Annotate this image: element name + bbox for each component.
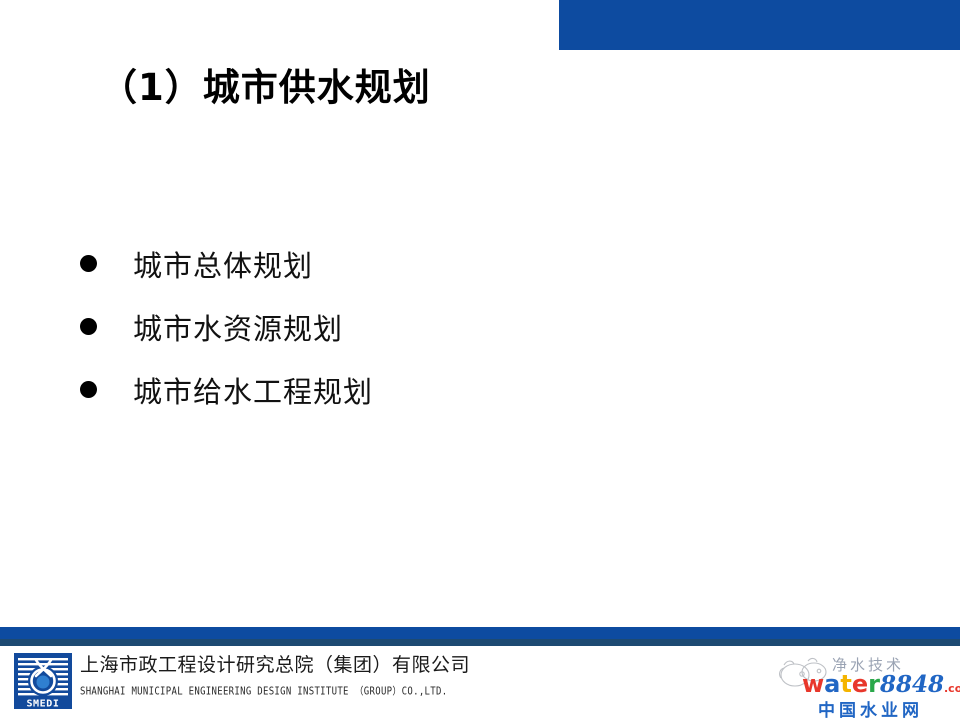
list-item: 城市水资源规划 — [80, 295, 700, 358]
watermark-tld: .com — [944, 682, 960, 695]
bullet-list: 城市总体规划 城市水资源规划 城市给水工程规划 — [80, 232, 700, 421]
footer-company-block: 上海市政工程设计研究总院（集团）有限公司 SHANGHAI MUNICIPAL … — [80, 653, 470, 696]
footer-company-cn: 上海市政工程设计研究总院（集团）有限公司 — [80, 654, 470, 678]
list-item-label: 城市给水工程规划 — [133, 369, 373, 411]
page-title: （1）城市供水规划 — [100, 66, 431, 110]
watermark-letter-w: w — [802, 670, 824, 698]
footer-divider — [0, 627, 960, 639]
bullet-dot-icon — [80, 255, 97, 272]
smedi-logo-wordmark: SMEDI — [26, 699, 59, 710]
smedi-logo-icon: SMEDI — [14, 653, 72, 709]
watermark-letter-r: r — [868, 670, 880, 698]
watermark-cn-bottom: 中国水业网 — [818, 696, 923, 721]
list-item: 城市给水工程规划 — [80, 358, 700, 421]
footer-company-en: SHANGHAI MUNICIPAL ENGINEERING DESIGN IN… — [80, 683, 470, 698]
slide-canvas: （1）城市供水规划 城市总体规划 城市水资源规划 城市给水工程规划 — [0, 0, 960, 720]
watermark-number: 8848 — [880, 671, 944, 698]
footer-identity: SMEDI 上海市政工程设计研究总院（集团）有限公司 SHANGHAI MUNI… — [14, 653, 470, 709]
bullet-dot-icon — [80, 318, 97, 335]
watermark-letter-a: a — [824, 670, 840, 698]
footer-divider-shadow — [0, 639, 960, 646]
watermark: 净水技术 water8848.com 中国水业网 — [778, 652, 960, 718]
header-accent-block — [559, 0, 960, 50]
bullet-dot-icon — [80, 381, 97, 398]
watermark-brand-logo: water8848.com — [802, 672, 960, 696]
watermark-letter-e: e — [852, 670, 868, 698]
list-item: 城市总体规划 — [80, 232, 700, 295]
list-item-label: 城市总体规划 — [133, 243, 313, 285]
list-item-label: 城市水资源规划 — [133, 306, 343, 348]
watermark-letter-t: t — [840, 670, 851, 698]
